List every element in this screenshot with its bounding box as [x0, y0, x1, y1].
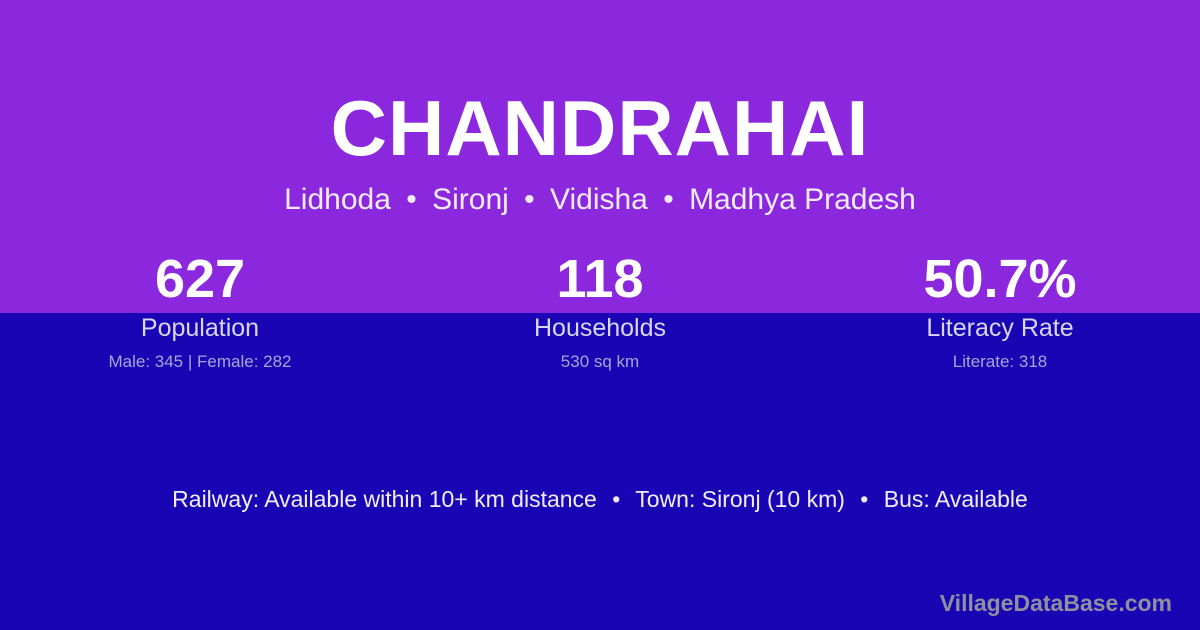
breadcrumb-item-state: Madhya Pradesh: [689, 183, 916, 216]
breadcrumb: Lidhoda • Sironj • Vidisha • Madhya Prad…: [0, 181, 1200, 219]
bullet-separator-icon: •: [399, 183, 424, 216]
stat-value: 50.7%: [800, 248, 1200, 310]
bullet-separator-icon: •: [851, 486, 877, 512]
breadcrumb-item-district: Vidisha: [550, 183, 648, 216]
stats-row: 627 Population Male: 345 | Female: 282 1…: [0, 248, 1200, 372]
stat-value: 627: [0, 248, 400, 310]
stat-literacy-rate: 50.7% Literacy Rate Literate: 318: [800, 248, 1200, 372]
stat-detail: Literate: 318: [800, 351, 1200, 372]
bullet-separator-icon: •: [603, 486, 629, 512]
breadcrumb-item-block: Sironj: [432, 183, 509, 216]
stat-households: 118 Households 530 sq km: [400, 248, 800, 372]
stat-value: 118: [400, 248, 800, 310]
stat-label: Population: [0, 313, 400, 344]
stat-label: Literacy Rate: [800, 313, 1200, 344]
stat-population: 627 Population Male: 345 | Female: 282: [0, 248, 400, 372]
amenity-town: Town: Sironj (10 km): [635, 486, 845, 512]
page-title: CHANDRAHAI: [0, 82, 1200, 174]
site-watermark: VillageDataBase.com: [940, 588, 1172, 618]
stat-detail: Male: 345 | Female: 282: [0, 351, 400, 372]
village-info-card: CHANDRAHAI Lidhoda • Sironj • Vidisha • …: [0, 0, 1200, 630]
amenities-line: Railway: Available within 10+ km distanc…: [0, 484, 1200, 515]
breadcrumb-item-village: Lidhoda: [284, 183, 391, 216]
stat-detail: 530 sq km: [400, 351, 800, 372]
bullet-separator-icon: •: [656, 183, 681, 216]
amenity-bus: Bus: Available: [884, 486, 1028, 512]
amenity-railway: Railway: Available within 10+ km distanc…: [172, 486, 597, 512]
bullet-separator-icon: •: [517, 183, 542, 216]
stat-label: Households: [400, 313, 800, 344]
